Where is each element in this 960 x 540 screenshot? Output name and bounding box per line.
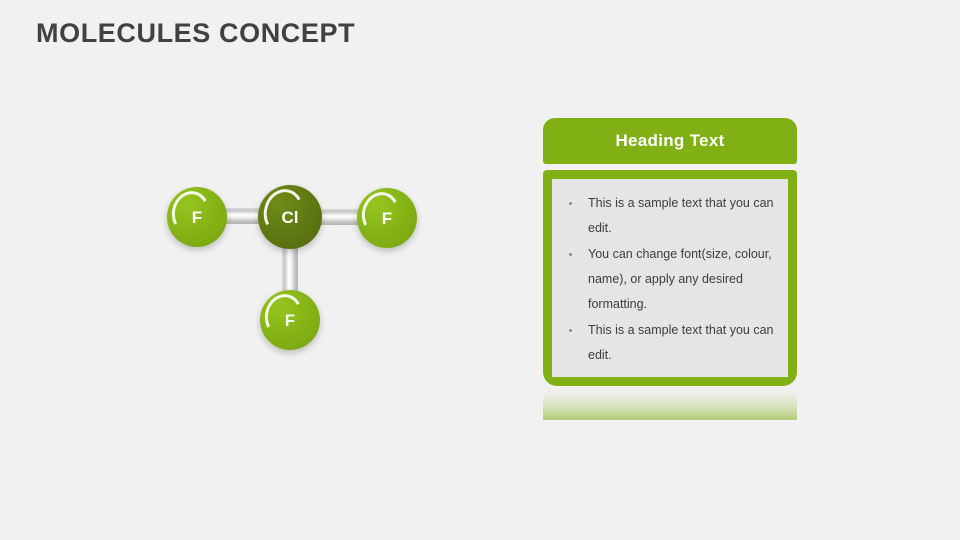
info-card: Heading Text This is a sample text that … (543, 118, 797, 420)
card-header-title: Heading Text (615, 131, 724, 151)
atom-f-left: F (167, 187, 227, 247)
bullet-list: This is a sample text that you can edit.… (556, 191, 778, 368)
atom-label-cl: Cl (282, 209, 299, 226)
list-item: This is a sample text that you can edit. (556, 318, 778, 368)
page-title: MOLECULES CONCEPT (36, 18, 355, 49)
card-reflection (543, 386, 797, 420)
atom-label-f-right: F (382, 210, 392, 227)
card-body-inner: This is a sample text that you can edit.… (552, 179, 788, 377)
atom-label-f-bottom: F (285, 312, 295, 329)
atom-cl-center: Cl (258, 185, 322, 249)
list-item: You can change font(size, colour, name),… (556, 242, 778, 317)
card-body: This is a sample text that you can edit.… (543, 170, 797, 386)
molecule-diagram: F F F Cl (150, 160, 450, 370)
atom-f-right: F (357, 188, 417, 248)
atom-label-f-left: F (192, 209, 202, 226)
card-header: Heading Text (543, 118, 797, 164)
atom-f-bottom: F (260, 290, 320, 350)
list-item: This is a sample text that you can edit. (556, 191, 778, 241)
